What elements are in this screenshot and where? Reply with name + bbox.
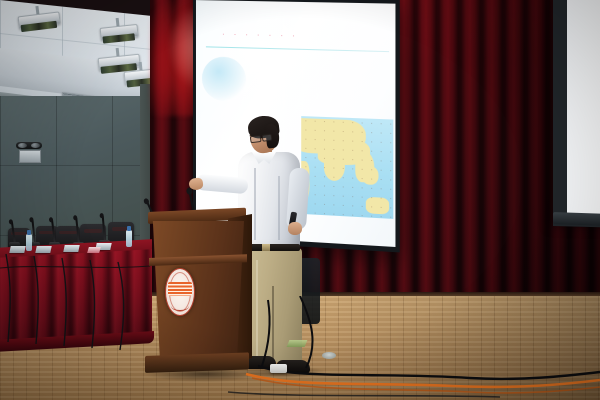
floor-cable-group — [0, 296, 600, 400]
presenter-shirt-fold-2 — [278, 176, 280, 240]
presenter-belt-buckle — [262, 244, 270, 251]
conference-hall-photo: · · · · · · · — [0, 0, 600, 400]
presenter-shirt-fold — [254, 168, 256, 240]
presenter-arm-extended — [195, 174, 248, 194]
presenter-belt — [246, 244, 300, 251]
presenter-hand-lowered — [288, 222, 302, 235]
eyeglasses-icon — [250, 133, 272, 143]
emblem-bands — [168, 282, 192, 296]
power-strip — [270, 364, 287, 373]
